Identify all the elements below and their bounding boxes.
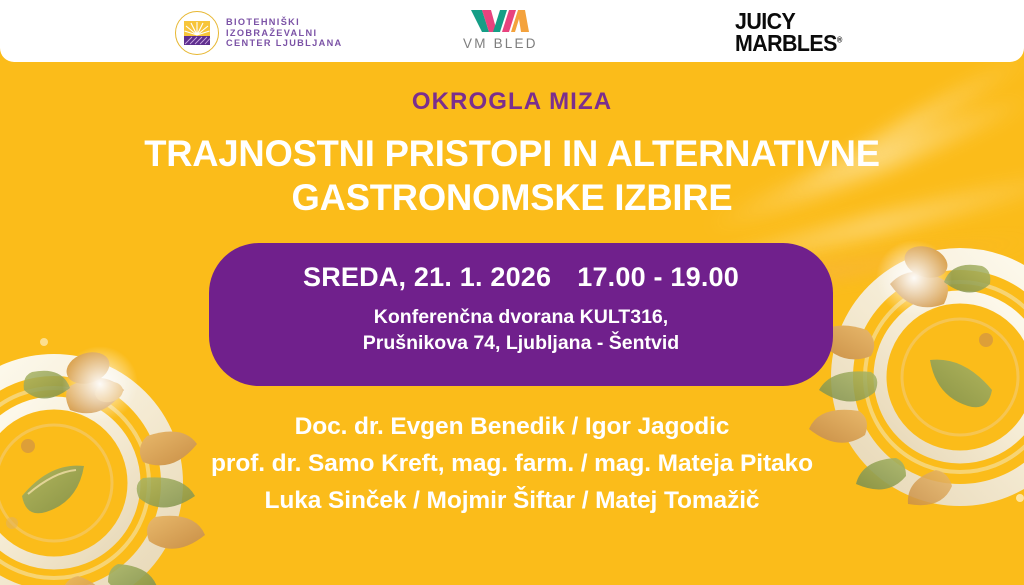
title-line-2: GASTRONOMSKE IZBIRE xyxy=(74,175,951,219)
speaker-line-2: prof. dr. Samo Kreft, mag. farm. / mag. … xyxy=(40,445,984,482)
title-line-1: TRAJNOSTNI PRISTOPI IN ALTERNATIVNE xyxy=(74,131,951,175)
vm-bled-wordmark: VM BLED xyxy=(463,36,538,51)
page-title: TRAJNOSTNI PRISTOPI IN ALTERNATIVNE GAST… xyxy=(60,131,964,220)
bic-line-1: BIOTEHNIŠKI xyxy=(226,17,343,28)
event-time: 17.00 - 19.00 xyxy=(577,262,739,292)
speaker-line-3: Luka Sinček / Mojmir Šiftar / Matej Toma… xyxy=(40,482,984,519)
logo-bic-wordmark: BIOTEHNIŠKI IZOBRAŽEVALNI CENTER LJUBLJA… xyxy=(226,17,343,50)
logo-header-bar: BIOTEHNIŠKI IZOBRAŽEVALNI CENTER LJUBLJA… xyxy=(0,0,1024,62)
bic-line-2: IZOBRAŽEVALNI xyxy=(226,28,343,39)
logo-bic-ljubljana: BIOTEHNIŠKI IZOBRAŽEVALNI CENTER LJUBLJA… xyxy=(175,11,343,55)
venue-line-2: Prušnikova 74, Ljubljana - Šentvid xyxy=(209,331,833,357)
event-datetime: SREDA, 21. 1. 202617.00 - 19.00 xyxy=(209,262,833,293)
logo-vm-bled: VM BLED xyxy=(463,8,538,51)
registered-mark-icon: ® xyxy=(837,35,842,44)
sunburst-field-emblem-icon xyxy=(175,11,219,55)
event-venue: Konferenčna dvorana KULT316, Prušnikova … xyxy=(209,305,833,357)
venue-line-1: Konferenčna dvorana KULT316, xyxy=(209,305,833,331)
speaker-line-1: Doc. dr. Evgen Benedik / Igor Jagodic xyxy=(40,408,984,445)
event-kicker: OKROGLA MIZA xyxy=(0,88,1024,116)
vm-monogram-icon xyxy=(469,8,531,34)
speaker-list: Doc. dr. Evgen Benedik / Igor Jagodic pr… xyxy=(40,408,984,520)
logo-juicy-marbles: JUICY MARBLES® xyxy=(735,10,850,54)
juicy-marbles-line-1: JUICY xyxy=(735,10,795,32)
juicy-marbles-line-2: MARBLES xyxy=(735,30,837,56)
bic-line-3: CENTER LJUBLJANA xyxy=(226,38,343,49)
event-date: SREDA, 21. 1. 2026 xyxy=(303,262,551,292)
event-poster: BIOTEHNIŠKI IZOBRAŽEVALNI CENTER LJUBLJA… xyxy=(0,0,1024,585)
event-details-panel: SREDA, 21. 1. 202617.00 - 19.00 Konferen… xyxy=(209,243,833,386)
